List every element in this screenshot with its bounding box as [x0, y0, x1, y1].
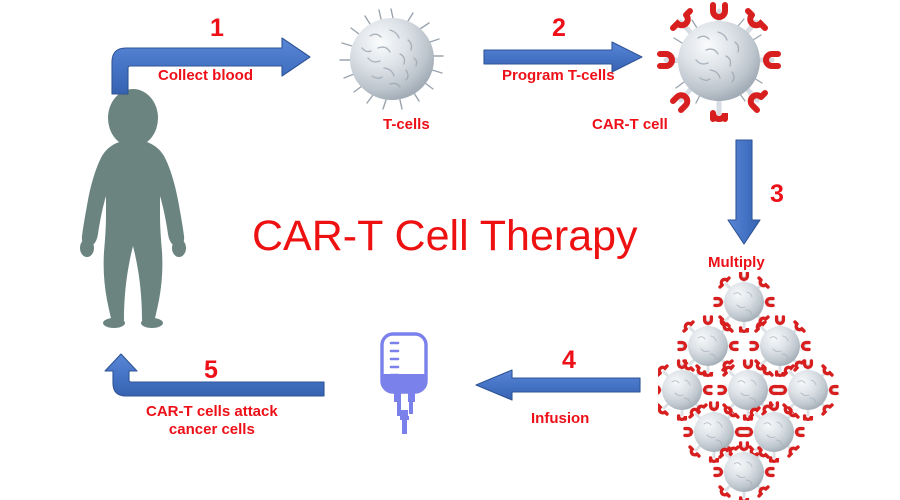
car-t-cell-cluster — [658, 272, 900, 500]
step-5-label-line2: cancer cells — [146, 421, 278, 439]
arrow-step-4 — [472, 368, 644, 402]
step-4-number: 4 — [562, 348, 576, 373]
step-5-label: CAR-T cells attack cancer cells — [146, 403, 278, 440]
step-5-label-line1: CAR-T cells attack — [146, 403, 278, 421]
step-1-label: Collect blood — [158, 67, 253, 84]
step-2-label: Program T-cells — [502, 67, 615, 84]
page-title: CAR-T Cell Therapy — [252, 212, 638, 261]
step-1-number: 1 — [210, 16, 224, 41]
step-3-label: Multiply — [708, 254, 765, 271]
cluster-row-5 — [715, 443, 773, 500]
step-3-number: 3 — [770, 182, 784, 207]
cluster-row-3 — [658, 361, 837, 419]
iv-infusion-bag — [372, 330, 438, 450]
car-t-cell — [652, 2, 786, 126]
car-t-therapy-diagram: 1 Collect blood — [0, 0, 900, 500]
car-t-cell-caption: CAR-T cell — [592, 116, 668, 133]
t-cell — [338, 8, 448, 118]
step-5-number: 5 — [204, 358, 218, 383]
step-2-number: 2 — [552, 16, 566, 41]
step-4-label: Infusion — [531, 410, 589, 427]
arrow-step-3 — [726, 138, 766, 248]
t-cell-caption: T-cells — [383, 116, 430, 133]
patient-silhouette — [58, 88, 208, 328]
